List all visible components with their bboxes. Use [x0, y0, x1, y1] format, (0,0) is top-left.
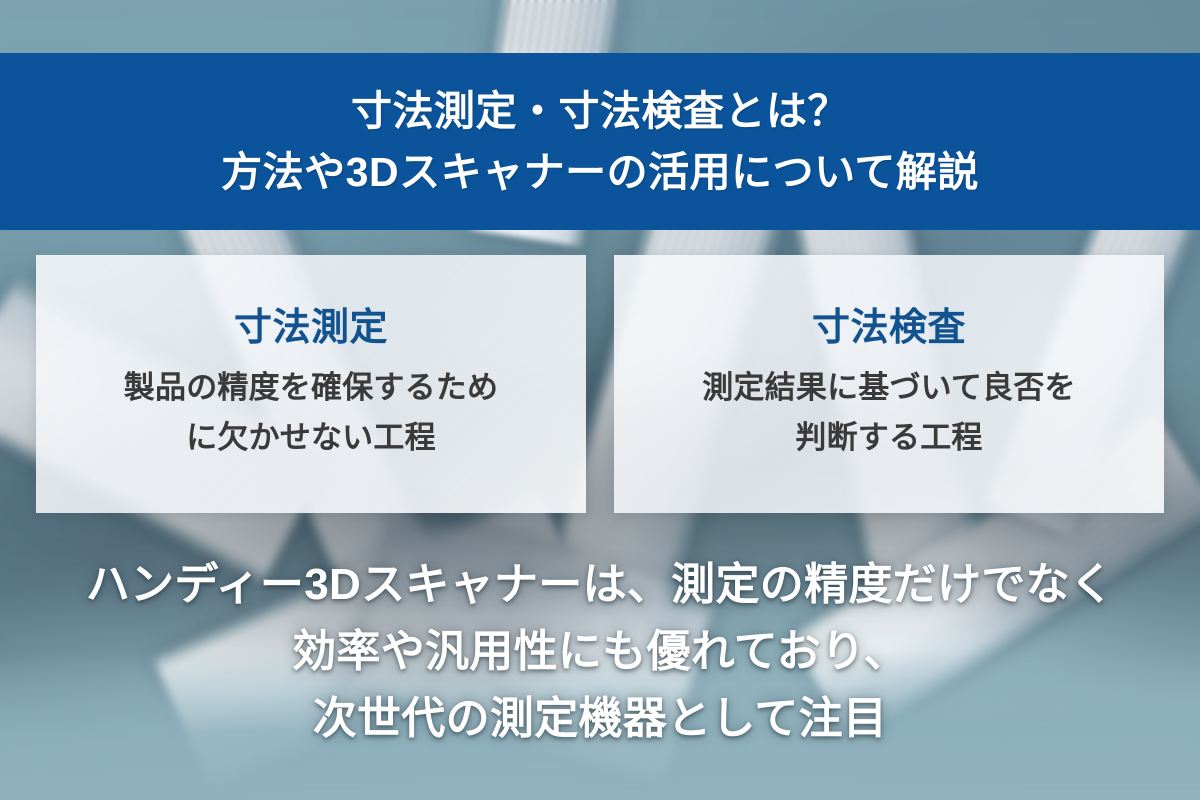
banner-title-line-2: 方法や3Dスキャナーの活用について解説 [221, 143, 979, 201]
card-body-line-2: に欠かせない工程 [124, 413, 498, 463]
card-title: 寸法測定 [234, 305, 388, 353]
bottom-message-line-3: 次世代の測定機器として注目 [313, 686, 888, 753]
title-banner: 寸法測定・寸法検査とは？ 方法や3Dスキャナーの活用について解説 [0, 53, 1200, 230]
bottom-message-line-2: 効率や汎用性にも優れており、 [292, 619, 908, 686]
card-body-line-2: 判断する工程 [702, 413, 1075, 463]
card-body: 測定結果に基づいて良否を 判断する工程 [702, 363, 1075, 463]
bottom-message: ハンディー3Dスキャナーは、測定の精度だけでなく 効率や汎用性にも優れており、 … [0, 552, 1200, 753]
banner-title-line-1: 寸法測定・寸法検査とは？ [351, 82, 849, 140]
card-body-line-1: 測定結果に基づいて良否を [702, 363, 1075, 413]
card-title: 寸法検査 [812, 305, 966, 353]
bottom-message-line-1: ハンディー3Dスキャナーは、測定の精度だけでなく [86, 552, 1114, 619]
definition-cards: 寸法測定 製品の精度を確保するため に欠かせない工程 寸法検査 測定結果に基づい… [36, 255, 1164, 513]
card-body: 製品の精度を確保するため に欠かせない工程 [124, 363, 498, 463]
card-body-line-1: 製品の精度を確保するため [124, 363, 498, 413]
hero-graphic: 寸法測定・寸法検査とは？ 方法や3Dスキャナーの活用について解説 寸法測定 製品… [0, 0, 1200, 800]
card-dimension-inspection: 寸法検査 測定結果に基づいて良否を 判断する工程 [614, 255, 1164, 513]
card-dimension-measurement: 寸法測定 製品の精度を確保するため に欠かせない工程 [36, 255, 586, 513]
